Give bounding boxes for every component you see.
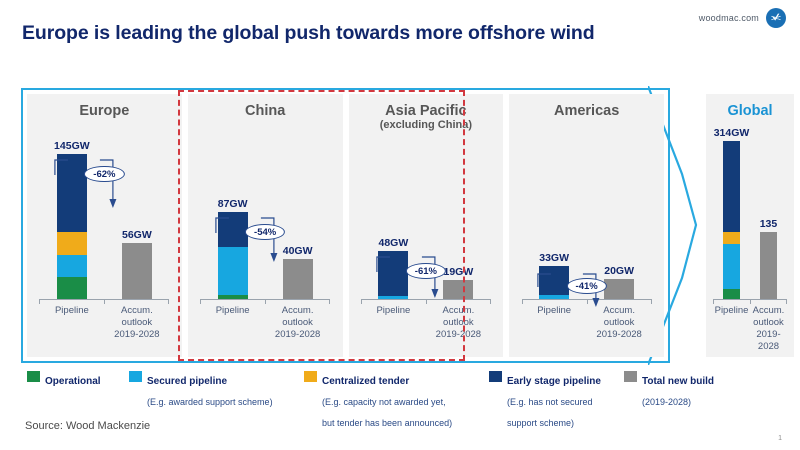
axis-line-europe (39, 299, 169, 300)
chart-china: -54% 87GW 40GW (188, 135, 343, 357)
segment-early-stage-pipeline (218, 212, 248, 247)
bar-label-outlook-asia-pacific: 19GW (443, 266, 473, 278)
legend-swatch-total-new-build-icon (624, 371, 637, 382)
bar-outlook-europe[interactable]: 56GW (122, 243, 152, 299)
bar-label-outlook-americas: 20GW (604, 265, 634, 277)
category-accum-outlook: Accum. outlook 2019-2028 (265, 301, 330, 355)
category-accum-line2: outlook (104, 317, 169, 329)
bar-pipeline-global[interactable]: 314GW (723, 141, 740, 299)
segment-secured-pipeline (723, 244, 740, 289)
category-accum-outlook: Accum. outlook 2019-2028 (426, 301, 491, 355)
chart-asia-pacific: -61% 48GW 19GW (349, 135, 504, 357)
category-accum-line1: Accum. (750, 305, 787, 317)
axis-line-global (713, 299, 787, 300)
page-number: 1 (778, 435, 782, 442)
page-title: Europe is leading the global push toward… (22, 22, 595, 45)
chart-global: 314GW 135 Pipeline Accum. (706, 135, 794, 357)
legend-item-operational[interactable]: Operational (27, 370, 129, 391)
bar-label-outlook-europe: 56GW (122, 229, 152, 241)
bar-outlook-china[interactable]: 40GW (283, 259, 313, 299)
segment-operational (723, 289, 740, 299)
regional-panels: Europe -62% 145GW (27, 94, 664, 357)
legend-text-centralized-tender: Centralized tender (E.g. capacity not aw… (322, 370, 452, 432)
bar-label-pipeline-asia-pacific: 48GW (378, 237, 408, 249)
segment-secured-pipeline (57, 255, 87, 277)
bar-slot-outlook-europe: 56GW (104, 139, 169, 299)
panel-title-europe: Europe (27, 94, 182, 119)
category-labels-china: Pipeline Accum. outlook 2019-2028 (200, 301, 330, 355)
panel-subtitle-asia-pacific: (excluding China) (349, 119, 504, 131)
delta-value-europe: -62% (84, 166, 124, 182)
legend-swatch-centralized-tender-icon (304, 371, 317, 382)
brand-url-label: woodmac.com (699, 13, 759, 23)
segment-total-new-build (443, 280, 473, 299)
category-accum-line2: outlook (750, 317, 787, 329)
segment-total-new-build (283, 259, 313, 299)
chart-americas: -41% 33GW 20GW (509, 135, 664, 357)
panel-title-global: Global (706, 94, 794, 119)
panel-asia-pacific[interactable]: Asia Pacific (excluding China) -61% 48GW (349, 94, 504, 357)
category-accum-line3: 2019-2028 (426, 329, 491, 341)
legend-swatch-early-stage-pipeline-icon (489, 371, 502, 382)
category-accum-line1: Accum. (104, 305, 169, 317)
category-accum-line3: 2019-2028 (587, 329, 652, 341)
category-labels-global: Pipeline Accum. outlook 2019-2028 (713, 301, 787, 355)
category-accum-outlook: Accum. outlook 2019-2028 (750, 301, 787, 355)
segment-early-stage-pipeline (723, 141, 740, 232)
legend-label-early-stage-pipeline: Early stage pipeline (507, 376, 601, 387)
category-accum-line2: outlook (265, 317, 330, 329)
bar-outlook-americas[interactable]: 20GW (604, 279, 634, 299)
segment-early-stage-pipeline (539, 266, 569, 295)
panel-china[interactable]: China -54% 87GW (188, 94, 343, 357)
segment-centralized-tender (57, 232, 87, 255)
delta-callout-asia-pacific: -61% (406, 263, 446, 279)
category-accum-line1: Accum. (587, 305, 652, 317)
legend-item-centralized-tender[interactable]: Centralized tender (E.g. capacity not aw… (304, 370, 489, 432)
bar-pipeline-europe[interactable]: 145GW (57, 154, 87, 299)
bar-label-pipeline-global: 314GW (714, 127, 750, 139)
category-pipeline: Pipeline (361, 301, 426, 355)
legend-note-secured-pipeline: (E.g. awarded support scheme) (147, 397, 273, 407)
bar-label-pipeline-europe: 145GW (54, 140, 90, 152)
legend-text-operational: Operational (45, 370, 101, 391)
delta-connector-asia-pacific (406, 263, 407, 264)
segment-early-stage-pipeline (57, 154, 87, 232)
bar-pipeline-asia-pacific[interactable]: 48GW (378, 251, 408, 299)
brand-mark: woodmac.com (699, 8, 786, 28)
legend-item-early-stage-pipeline[interactable]: Early stage pipeline (E.g. has not secur… (489, 370, 624, 432)
panel-europe[interactable]: Europe -62% 145GW (27, 94, 182, 357)
legend-text-secured-pipeline: Secured pipeline (E.g. awarded support s… (147, 370, 273, 412)
segment-centralized-tender (723, 232, 740, 244)
legend-note-early-stage-pipeline-line2: support scheme) (507, 418, 574, 428)
category-accum-line2: outlook (587, 317, 652, 329)
bars-europe: 145GW 56GW (39, 139, 169, 299)
category-pipeline: Pipeline (39, 301, 104, 355)
chart-europe: -62% 145GW 56GW (27, 135, 182, 357)
segment-total-new-build (122, 243, 152, 299)
legend-note-centralized-tender-line1: (E.g. capacity not awarded yet, (322, 397, 446, 407)
category-accum-line1: Accum. (426, 305, 491, 317)
bar-pipeline-americas[interactable]: 33GW (539, 266, 569, 299)
bar-slot-pipeline-china: 87GW (200, 139, 265, 299)
delta-connector-china (245, 224, 246, 225)
delta-value-china: -54% (245, 224, 285, 240)
bar-pipeline-china[interactable]: 87GW (218, 212, 248, 299)
legend-label-centralized-tender: Centralized tender (322, 376, 409, 387)
bar-slot-outlook-global: 135 (750, 139, 787, 299)
delta-value-americas: -41% (567, 278, 607, 294)
bars-global: 314GW 135 (713, 139, 787, 299)
panel-americas[interactable]: Americas -41% 33GW (509, 94, 664, 357)
category-accum-outlook: Accum. outlook 2019-2028 (104, 301, 169, 355)
category-labels-americas: Pipeline Accum. outlook 2019-2028 (522, 301, 652, 355)
legend-label-secured-pipeline: Secured pipeline (147, 376, 227, 387)
delta-value-asia-pacific: -61% (406, 263, 446, 279)
segment-early-stage-pipeline (378, 251, 408, 296)
legend-text-early-stage-pipeline: Early stage pipeline (E.g. has not secur… (507, 370, 601, 432)
delta-callout-americas: -41% (567, 278, 607, 294)
category-labels-europe: Pipeline Accum. outlook 2019-2028 (39, 301, 169, 355)
delta-connector-americas (567, 278, 568, 279)
legend-text-total-new-build: Total new build (2019-2028) (642, 370, 714, 412)
bar-slot-outlook-americas: 20GW (587, 139, 652, 299)
legend-swatch-secured-pipeline-icon (129, 371, 142, 382)
legend-note-centralized-tender-line2: but tender has been announced) (322, 418, 452, 428)
axis-line-americas (522, 299, 652, 300)
category-pipeline: Pipeline (200, 301, 265, 355)
legend-label-total-new-build: Total new build (642, 376, 714, 387)
bars-americas: 33GW 20GW (522, 139, 652, 299)
panel-global[interactable]: Global 314GW 135 (706, 94, 794, 357)
legend-item-secured-pipeline[interactable]: Secured pipeline (E.g. awarded support s… (129, 370, 304, 412)
category-accum-outlook: Accum. outlook 2019-2028 (587, 301, 652, 355)
category-accum-line1: Accum. (265, 305, 330, 317)
legend-label-operational: Operational (45, 376, 101, 387)
bar-label-pipeline-americas: 33GW (539, 252, 569, 264)
category-labels-asia-pacific: Pipeline Accum. outlook 2019-2028 (361, 301, 491, 355)
panel-title-china: China (188, 94, 343, 119)
delta-callout-europe: -62% (84, 166, 124, 182)
category-pipeline: Pipeline (522, 301, 587, 355)
bar-label-outlook-china: 40GW (283, 245, 313, 257)
woodmac-checkmark-globe-icon (766, 8, 786, 28)
bar-slot-pipeline-europe: 145GW (39, 139, 104, 299)
axis-line-asia-pacific (361, 299, 491, 300)
delta-connector-europe (84, 166, 85, 167)
panel-title-americas: Americas (509, 94, 664, 119)
category-accum-line3: 2019-2028 (750, 329, 787, 353)
category-accum-line2: outlook (426, 317, 491, 329)
bar-outlook-global[interactable]: 135 (760, 232, 777, 299)
source-note: Source: Wood Mackenzie (25, 420, 150, 432)
segment-secured-pipeline (218, 247, 248, 295)
segment-total-new-build (760, 232, 777, 299)
bar-label-pipeline-china: 87GW (218, 198, 248, 210)
legend-note-early-stage-pipeline-line1: (E.g. has not secured (507, 397, 593, 407)
bar-outlook-asia-pacific[interactable]: 19GW (443, 280, 473, 299)
category-pipeline: Pipeline (713, 301, 750, 355)
delta-callout-china: -54% (245, 224, 285, 240)
category-accum-line3: 2019-2028 (265, 329, 330, 341)
panel-title-asia-pacific-main: Asia Pacific (385, 103, 466, 119)
bar-slot-pipeline-americas: 33GW (522, 139, 587, 299)
segment-total-new-build (604, 279, 634, 299)
bars-china: 87GW 40GW (200, 139, 330, 299)
legend-note-total-new-build: (2019-2028) (642, 397, 691, 407)
category-accum-line3: 2019-2028 (104, 329, 169, 341)
bar-slot-outlook-china: 40GW (265, 139, 330, 299)
axis-line-china (200, 299, 330, 300)
segment-operational (57, 277, 87, 299)
legend-item-total-new-build[interactable]: Total new build (2019-2028) (624, 370, 734, 412)
bar-label-outlook-global: 135 (760, 218, 778, 230)
panel-title-asia-pacific: Asia Pacific (excluding China) (349, 94, 504, 132)
bar-slot-pipeline-global: 314GW (713, 139, 750, 299)
legend-swatch-operational-icon (27, 371, 40, 382)
